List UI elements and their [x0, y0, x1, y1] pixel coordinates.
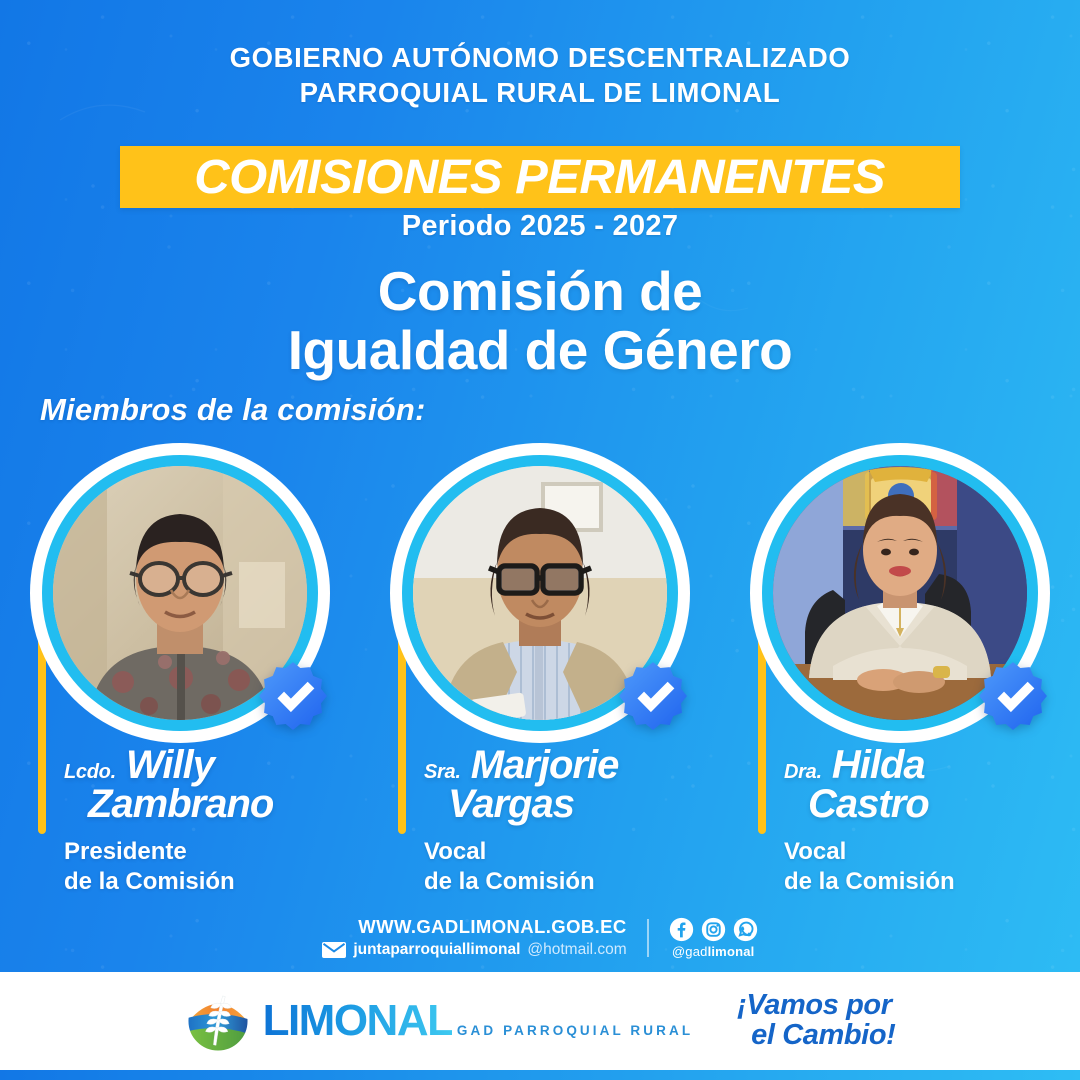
- contact-web-email: WWW.GADLIMONAL.GOB.EC juntaparroquiallim…: [322, 916, 626, 959]
- email-user: juntaparroquiallimonal: [353, 941, 520, 959]
- footer-bar: LIMONAL GAD PARROQUIAL RURAL ¡Vamos por …: [0, 972, 1080, 1070]
- slogan-line1: ¡Vamos por: [737, 991, 895, 1021]
- member-role: Vocal de la Comisión: [424, 837, 704, 896]
- member-first-name: Willy: [126, 743, 214, 787]
- facebook-icon[interactable]: [669, 917, 694, 942]
- footer-bottom-strip: [0, 1070, 1080, 1080]
- commission-title: Comisión de Igualdad de Género: [0, 262, 1080, 380]
- envelope-icon: [322, 942, 346, 958]
- verified-badge-icon: [974, 659, 1052, 737]
- member-name-line1: Lcdo. Willy: [64, 746, 344, 785]
- member-role-line1: Presidente: [64, 837, 344, 866]
- instagram-icon[interactable]: [701, 917, 726, 942]
- contact-strip: WWW.GADLIMONAL.GOB.EC juntaparroquiallim…: [0, 916, 1080, 959]
- limonal-brand-text: LIMONAL GAD PARROQUIAL RURAL: [263, 999, 694, 1043]
- commission-title-line1: Comisión de: [0, 262, 1080, 321]
- brand-name: LIMONAL: [263, 996, 453, 1045]
- slogan-line2: el Cambio!: [737, 1021, 895, 1051]
- member-card: Sra. Marjorie Vargas Vocal de la Comisió…: [372, 443, 708, 903]
- member-name-block: Lcdo. Willy Zambrano Presidente de la Co…: [64, 746, 344, 896]
- banner-title-part2: PERMANENTES: [516, 151, 886, 204]
- social-block: @gadlimonal: [669, 917, 758, 959]
- member-last-name: Castro: [784, 785, 1064, 824]
- period-label: Periodo 2025 - 2027: [0, 210, 1080, 243]
- member-role-line2: de la Comisión: [784, 867, 1064, 896]
- member-role-line2: de la Comisión: [424, 867, 704, 896]
- member-role: Vocal de la Comisión: [784, 837, 1064, 896]
- avatar: [390, 443, 690, 743]
- member-role: Presidente de la Comisión: [64, 837, 344, 896]
- members-list: Lcdo. Willy Zambrano Presidente de la Co…: [0, 443, 1080, 903]
- member-name-block: Sra. Marjorie Vargas Vocal de la Comisió…: [424, 746, 704, 896]
- member-last-name: Zambrano: [64, 785, 344, 824]
- members-heading: Miembros de la comisión:: [40, 392, 426, 428]
- member-card: Dra. Hilda Castro Vocal de la Comisión: [732, 443, 1068, 903]
- member-role-line1: Vocal: [784, 837, 1064, 866]
- commission-title-line2: Igualdad de Género: [0, 321, 1080, 380]
- member-honorific: Dra.: [784, 761, 822, 783]
- member-last-name: Vargas: [424, 785, 704, 824]
- permanent-commissions-banner: COMISIONES PERMANENTES: [120, 146, 960, 208]
- contact-divider: [647, 919, 649, 957]
- member-card: Lcdo. Willy Zambrano Presidente de la Co…: [12, 443, 348, 903]
- social-handle-prefix: @gad: [672, 944, 708, 959]
- avatar: [30, 443, 330, 743]
- member-name-line1: Dra. Hilda: [784, 746, 1064, 785]
- banner-title: COMISIONES PERMANENTES: [195, 150, 886, 205]
- limonal-emblem-icon: [185, 988, 251, 1054]
- social-handle: @gadlimonal: [669, 944, 758, 959]
- member-name-line1: Sra. Marjorie: [424, 746, 704, 785]
- email-row[interactable]: juntaparroquiallimonal@hotmail.com: [322, 941, 626, 959]
- verified-badge-icon: [614, 659, 692, 737]
- org-title-line2: PARROQUIAL RURAL DE LIMONAL: [0, 75, 1080, 110]
- verified-badge-icon: [254, 659, 332, 737]
- whatsapp-icon[interactable]: [733, 917, 758, 942]
- member-honorific: Lcdo.: [64, 761, 116, 783]
- member-role-line2: de la Comisión: [64, 867, 344, 896]
- website-link[interactable]: WWW.GADLIMONAL.GOB.EC: [322, 916, 626, 938]
- brand-subtitle: GAD PARROQUIAL RURAL: [457, 1023, 693, 1038]
- poster-canvas: GOBIERNO AUTÓNOMO DESCENTRALIZADO PARROQ…: [0, 0, 1080, 1080]
- org-title-line1: GOBIERNO AUTÓNOMO DESCENTRALIZADO: [230, 42, 851, 73]
- member-honorific: Sra.: [424, 761, 461, 783]
- member-name-block: Dra. Hilda Castro Vocal de la Comisión: [784, 746, 1064, 896]
- social-handle-bold: limonal: [708, 944, 755, 959]
- slogan: ¡Vamos por el Cambio!: [737, 991, 895, 1050]
- social-icon-row: [669, 917, 758, 942]
- member-role-line1: Vocal: [424, 837, 704, 866]
- email-domain: @hotmail.com: [527, 941, 626, 959]
- organization-title: GOBIERNO AUTÓNOMO DESCENTRALIZADO PARROQ…: [0, 40, 1080, 110]
- limonal-brand: LIMONAL GAD PARROQUIAL RURAL: [185, 988, 694, 1054]
- avatar: [750, 443, 1050, 743]
- banner-title-part1: COMISIONES: [195, 151, 516, 204]
- member-first-name: Hilda: [832, 743, 925, 787]
- member-first-name: Marjorie: [471, 743, 619, 787]
